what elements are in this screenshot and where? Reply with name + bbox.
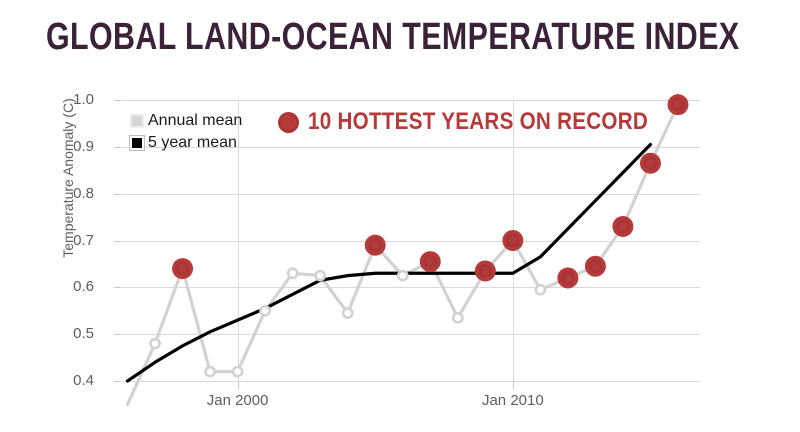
y-axis-tick-mark: [114, 287, 121, 288]
x-axis-tick-mark: [513, 381, 514, 389]
y-axis-label: Temperature Anomaly (C): [60, 98, 76, 258]
x-axis-tick-label: Jan 2010: [482, 392, 544, 409]
annual-mean-data-point: [398, 271, 407, 280]
hottest-year-data-point: [612, 216, 633, 237]
annual-mean-data-point: [205, 367, 214, 376]
annual-mean-data-point: [261, 306, 270, 315]
annual-mean-data-point: [233, 367, 242, 376]
y-axis-tick-mark: [114, 100, 121, 101]
y-axis-tick-mark: [114, 381, 121, 382]
annual-mean-data-point: [288, 269, 297, 278]
legend-item-annual-mean: Annual mean: [130, 110, 242, 132]
chart-legend: Annual mean 5 year mean: [130, 110, 242, 154]
legend-label-five-year-mean: 5 year mean: [148, 132, 237, 154]
hottest-year-data-point: [502, 230, 523, 251]
hottest-year-data-point: [420, 251, 441, 272]
y-axis-tick-label: 0.6: [48, 278, 94, 295]
y-axis-tick-mark: [114, 241, 121, 242]
annual-mean-data-point: [453, 313, 462, 322]
x-axis-tick-mark: [238, 381, 239, 389]
y-axis-tick-mark: [114, 194, 121, 195]
legend-label-annual-mean: Annual mean: [148, 110, 242, 132]
hottest-year-data-point: [172, 258, 193, 279]
five-year-mean-swatch-icon: [130, 136, 144, 150]
legend-item-five-year-mean: 5 year mean: [130, 132, 242, 154]
hottest-year-data-point: [475, 260, 496, 281]
annual-mean-data-point: [316, 271, 325, 280]
chart-container: GLOBAL LAND-OCEAN TEMPERATURE INDEX 0.40…: [0, 0, 800, 432]
y-axis-tick-label: 0.4: [48, 372, 94, 389]
y-axis-tick-label: 0.5: [48, 325, 94, 342]
annual-mean-data-point: [343, 308, 352, 317]
gridline: [122, 381, 700, 382]
annual-mean-markers: [150, 269, 545, 377]
hottest-years-legend: 10 HOTTEST YEARS ON RECORD: [278, 108, 703, 136]
y-axis-tick-mark: [114, 147, 121, 148]
hottest-year-dot-icon: [278, 112, 299, 133]
annual-mean-swatch-icon: [130, 114, 144, 128]
page-title: GLOBAL LAND-OCEAN TEMPERATURE INDEX: [46, 18, 740, 58]
annual-mean-data-point: [150, 339, 159, 348]
hottest-year-data-point: [557, 267, 578, 288]
annual-mean-data-point: [536, 285, 545, 294]
x-axis-tick-label: Jan 2000: [207, 392, 269, 409]
hottest-year-data-point: [585, 256, 606, 277]
y-axis-tick-mark: [114, 334, 121, 335]
hottest-year-data-point: [365, 235, 386, 256]
hottest-year-data-point: [640, 153, 661, 174]
hottest-years-legend-label: 10 HOTTEST YEARS ON RECORD: [308, 108, 648, 136]
